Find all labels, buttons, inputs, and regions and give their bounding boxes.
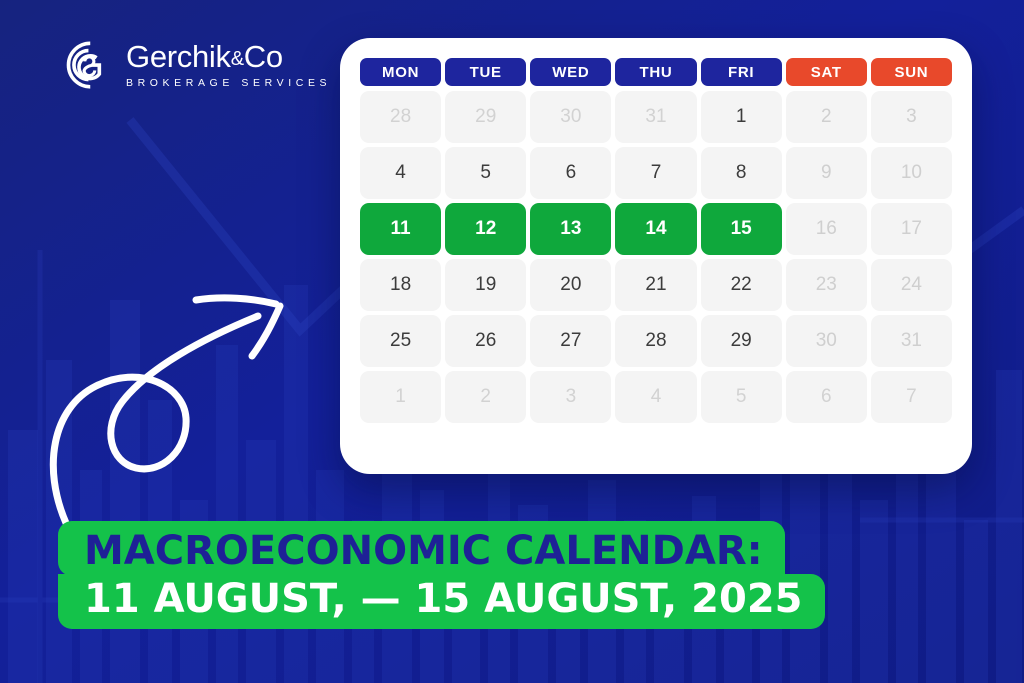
calendar-day-cell[interactable]: 30: [530, 91, 611, 143]
day-header-wed: WED: [530, 58, 611, 86]
title-banner-line2-block: 11 AUGUST, — 15 AUGUST, 2025: [58, 574, 825, 629]
day-header-tue: TUE: [445, 58, 526, 86]
calendar-day-cell[interactable]: 20: [530, 259, 611, 311]
calendar-day-cell[interactable]: 9: [786, 147, 867, 199]
calendar-day-cell[interactable]: 2: [786, 91, 867, 143]
calendar-day-cell[interactable]: 4: [615, 371, 696, 423]
calendar-day-cell[interactable]: 5: [445, 147, 526, 199]
brand-name: Gerchik&Co: [126, 41, 331, 74]
calendar-day-cell[interactable]: 1: [360, 371, 441, 423]
calendar-day-cell[interactable]: 31: [871, 315, 952, 367]
calendar-day-cell[interactable]: 2: [445, 371, 526, 423]
calendar-grid: 2829303112345678910111213141516171819202…: [360, 91, 952, 423]
calendar-day-cell[interactable]: 7: [871, 371, 952, 423]
calendar-day-cell[interactable]: 4: [360, 147, 441, 199]
calendar-day-cell[interactable]: 16: [786, 203, 867, 255]
brand-logo: Gerchik&Co BROKERAGE SERVICES: [54, 36, 331, 94]
calendar-card: MONTUEWEDTHUFRISATSUN 282930311234567891…: [340, 38, 972, 474]
day-header-sat: SAT: [786, 58, 867, 86]
calendar-header-row: MONTUEWEDTHUFRISATSUN: [360, 58, 952, 86]
calendar-day-cell[interactable]: 29: [445, 91, 526, 143]
title-banner-line1-block: MACROECONOMIC CALENDAR:: [58, 521, 785, 576]
calendar-week-row: 18192021222324: [360, 259, 952, 311]
calendar-day-cell-selected[interactable]: 13: [530, 203, 611, 255]
calendar-day-cell[interactable]: 6: [786, 371, 867, 423]
calendar-day-cell-selected[interactable]: 11: [360, 203, 441, 255]
calendar-day-cell[interactable]: 28: [615, 315, 696, 367]
banner-title: MACROECONOMIC CALENDAR:: [84, 527, 763, 576]
calendar-day-cell[interactable]: 23: [786, 259, 867, 311]
calendar-day-cell[interactable]: 3: [530, 371, 611, 423]
calendar-week-row: 11121314151617: [360, 203, 952, 255]
calendar-day-cell[interactable]: 1: [701, 91, 782, 143]
calendar-week-row: 45678910: [360, 147, 952, 199]
calendar-week-row: 25262728293031: [360, 315, 952, 367]
calendar-day-cell[interactable]: 28: [360, 91, 441, 143]
calendar-day-cell[interactable]: 26: [445, 315, 526, 367]
calendar-week-row: 28293031123: [360, 91, 952, 143]
calendar-day-cell[interactable]: 31: [615, 91, 696, 143]
brand-ampersand: &: [231, 48, 244, 70]
day-header-sun: SUN: [871, 58, 952, 86]
calendar-day-cell[interactable]: 25: [360, 315, 441, 367]
calendar-day-cell[interactable]: 21: [615, 259, 696, 311]
calendar-day-cell[interactable]: 17: [871, 203, 952, 255]
brand-tagline: BROKERAGE SERVICES: [126, 77, 331, 89]
hand-drawn-looping-arrow-icon: [44, 268, 344, 528]
calendar-day-cell[interactable]: 24: [871, 259, 952, 311]
calendar-day-cell[interactable]: 19: [445, 259, 526, 311]
calendar-day-cell-selected[interactable]: 15: [701, 203, 782, 255]
banner-date-range: 11 AUGUST, — 15 AUGUST, 2025: [84, 574, 803, 625]
calendar-day-cell[interactable]: 6: [530, 147, 611, 199]
calendar-day-cell[interactable]: 5: [701, 371, 782, 423]
calendar-day-cell[interactable]: 27: [530, 315, 611, 367]
calendar-week-row: 1234567: [360, 371, 952, 423]
calendar-day-cell[interactable]: 18: [360, 259, 441, 311]
day-header-mon: MON: [360, 58, 441, 86]
day-header-thu: THU: [615, 58, 696, 86]
calendar-day-cell[interactable]: 22: [701, 259, 782, 311]
brand-name-main: Gerchik: [126, 39, 231, 74]
brand-name-suffix: Co: [244, 39, 283, 74]
calendar-day-cell[interactable]: 29: [701, 315, 782, 367]
calendar-day-cell[interactable]: 7: [615, 147, 696, 199]
calendar-day-cell[interactable]: 10: [871, 147, 952, 199]
day-header-fri: FRI: [701, 58, 782, 86]
calendar-day-cell[interactable]: 8: [701, 147, 782, 199]
calendar-day-cell[interactable]: 3: [871, 91, 952, 143]
calendar-day-cell-selected[interactable]: 14: [615, 203, 696, 255]
gerchik-monogram-icon: [54, 36, 112, 94]
title-banner: MACROECONOMIC CALENDAR: 11 AUGUST, — 15 …: [58, 521, 1024, 629]
calendar-day-cell[interactable]: 30: [786, 315, 867, 367]
calendar-day-cell-selected[interactable]: 12: [445, 203, 526, 255]
